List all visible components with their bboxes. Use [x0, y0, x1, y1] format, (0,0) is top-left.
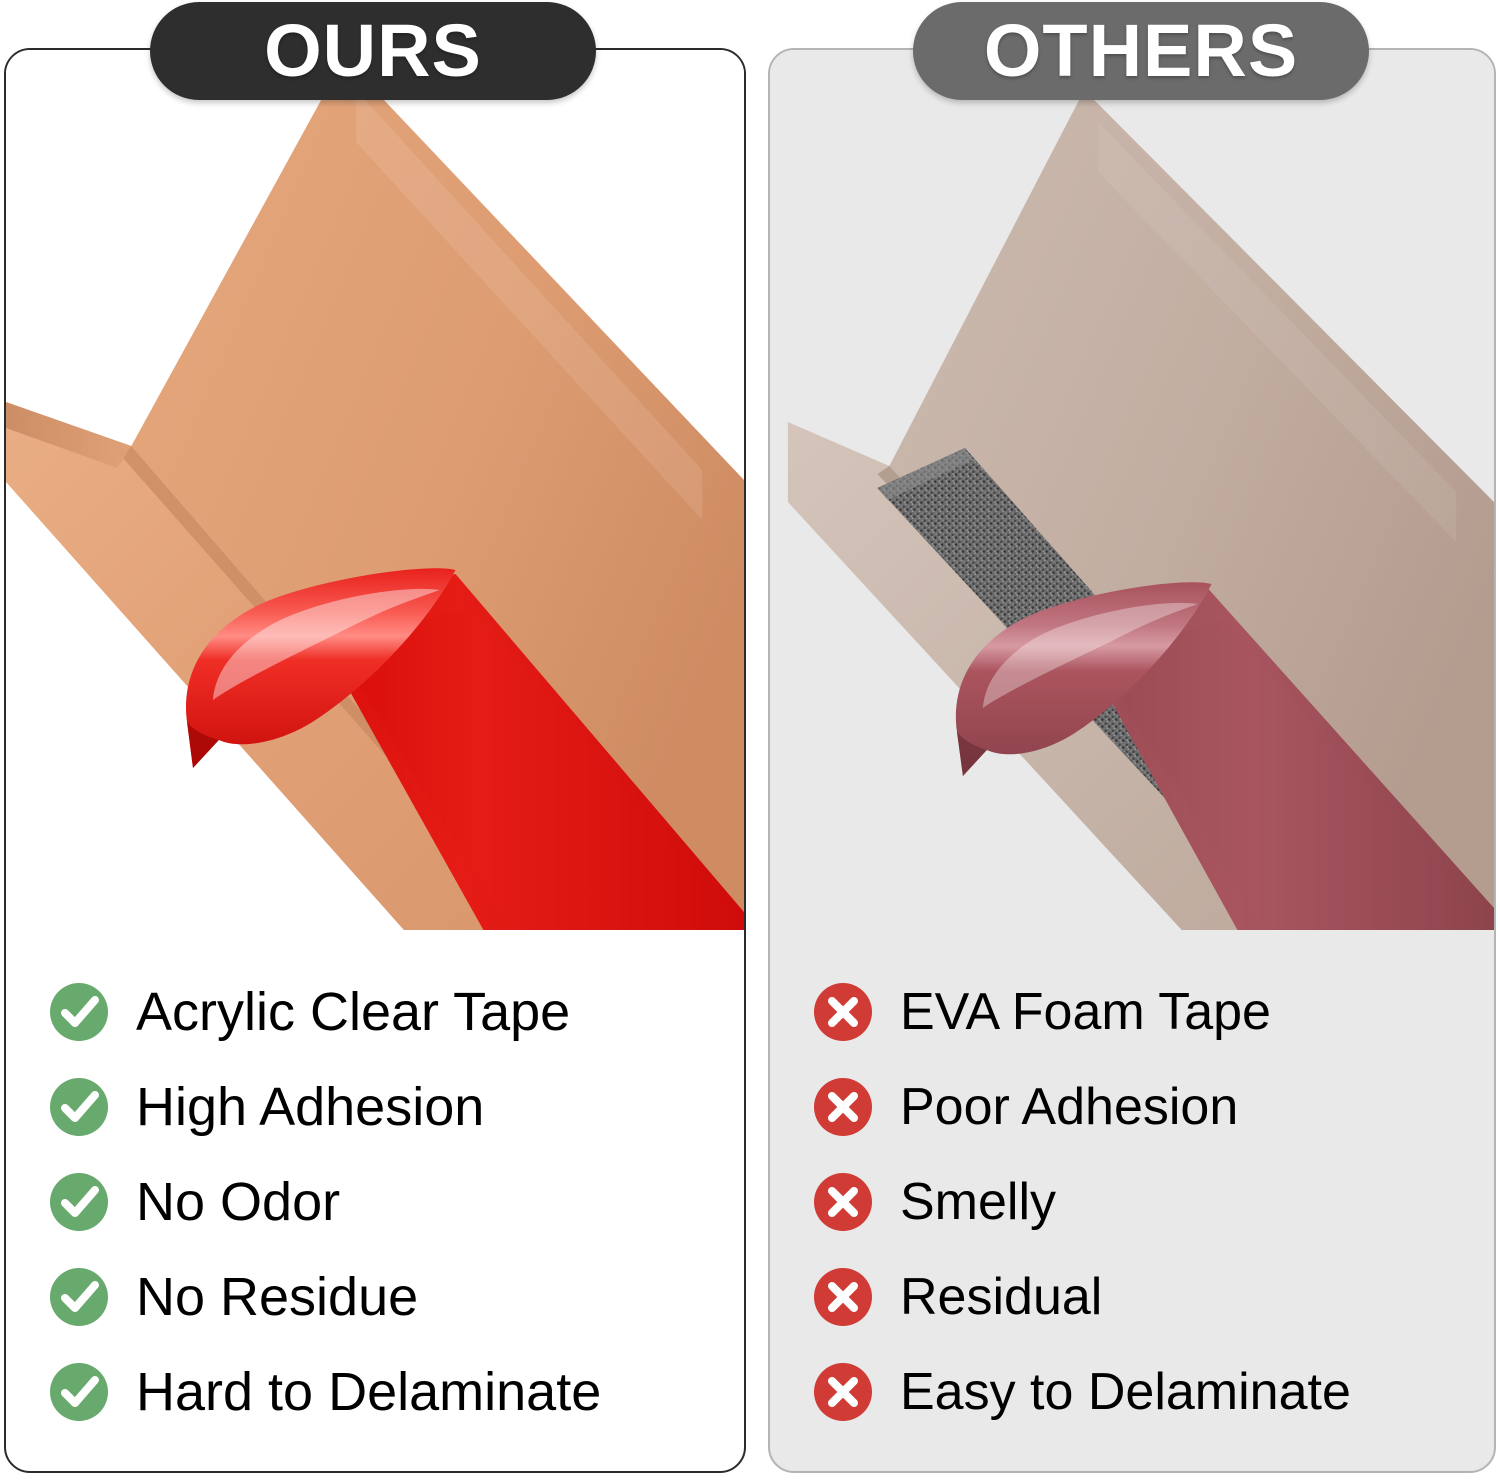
feature-label: No Residue — [136, 1270, 418, 1324]
list-item: Acrylic Clear Tape — [6, 964, 744, 1059]
list-item: Poor Adhesion — [770, 1059, 1494, 1154]
list-item: EVA Foam Tape — [770, 964, 1494, 1059]
badge-ours: OURS — [150, 2, 596, 100]
feature-label: Easy to Delaminate — [900, 1366, 1351, 1418]
feature-label: EVA Foam Tape — [900, 986, 1271, 1038]
panel-ours: Acrylic Clear Tape High Adhesion — [4, 48, 746, 1473]
check-circle-icon — [48, 1266, 110, 1328]
list-item: Smelly — [770, 1154, 1494, 1249]
list-item: Easy to Delaminate — [770, 1344, 1494, 1439]
ours-photo-illustration — [6, 50, 744, 930]
list-item: No Residue — [6, 1249, 744, 1344]
feature-label: Smelly — [900, 1176, 1056, 1228]
cross-circle-icon — [812, 1361, 874, 1423]
badge-others-label: OTHERS — [984, 14, 1298, 88]
feature-label: Acrylic Clear Tape — [136, 985, 570, 1039]
check-circle-icon — [48, 1076, 110, 1138]
cross-circle-icon — [812, 1266, 874, 1328]
comparison-infographic: Acrylic Clear Tape High Adhesion — [0, 0, 1500, 1480]
feature-label: Hard to Delaminate — [136, 1365, 601, 1419]
badge-ours-label: OURS — [264, 14, 482, 88]
others-photo-illustration — [770, 50, 1494, 930]
feature-label: No Odor — [136, 1175, 340, 1229]
list-item: Residual — [770, 1249, 1494, 1344]
list-item: High Adhesion — [6, 1059, 744, 1154]
check-circle-icon — [48, 1361, 110, 1423]
cross-circle-icon — [812, 1076, 874, 1138]
product-photo-ours — [6, 50, 744, 930]
check-circle-icon — [48, 981, 110, 1043]
product-photo-others — [770, 50, 1494, 930]
badge-others: OTHERS — [913, 2, 1369, 100]
list-item: Hard to Delaminate — [6, 1344, 744, 1439]
feature-label: Poor Adhesion — [900, 1081, 1238, 1133]
feature-list-ours: Acrylic Clear Tape High Adhesion — [6, 930, 744, 1439]
cross-circle-icon — [812, 1171, 874, 1233]
feature-list-others: EVA Foam Tape Poor Adhesion — [770, 930, 1494, 1439]
list-item: No Odor — [6, 1154, 744, 1249]
check-circle-icon — [48, 1171, 110, 1233]
feature-label: Residual — [900, 1271, 1102, 1323]
cross-circle-icon — [812, 981, 874, 1043]
feature-label: High Adhesion — [136, 1080, 484, 1134]
panel-others: EVA Foam Tape Poor Adhesion — [768, 48, 1496, 1473]
